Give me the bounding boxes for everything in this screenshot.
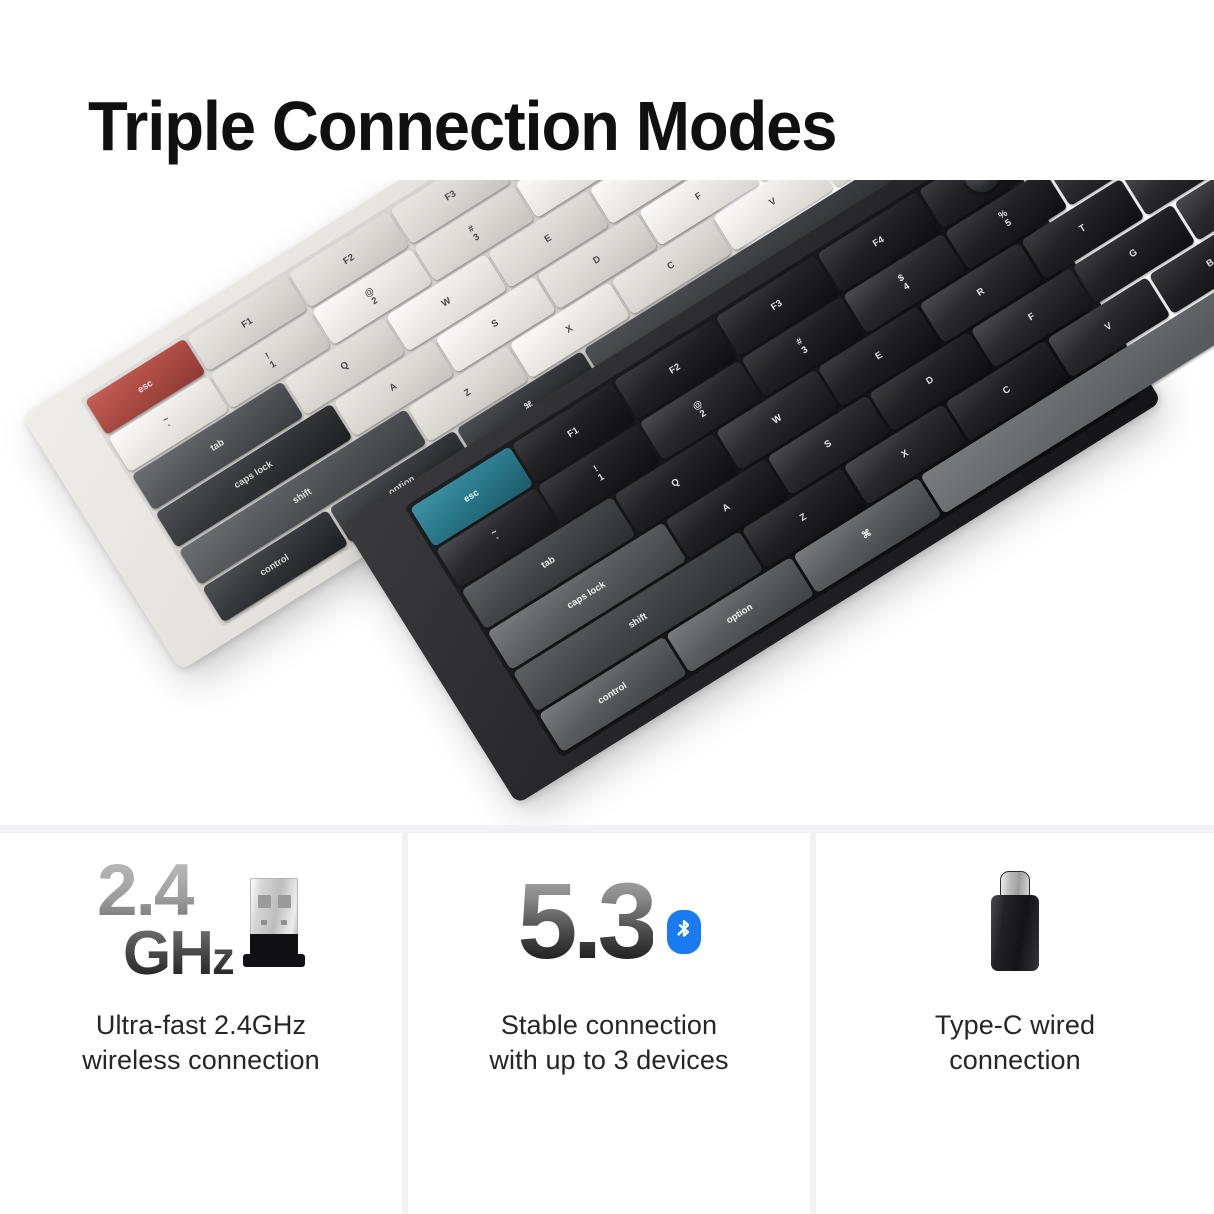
keycap-legend: $ 4 [897, 273, 912, 293]
keycap-legend: caps lock [233, 460, 275, 491]
feature-panel-type-c: Type-C wired connection [816, 833, 1214, 1214]
keycap-legend: R [645, 180, 656, 182]
keycap-legend: C [1001, 385, 1012, 397]
keycap-legend: S [823, 439, 834, 451]
keycap-legend: ~ ` [490, 528, 505, 548]
dongle-foot [243, 954, 305, 967]
keycap-legend: option [725, 603, 755, 627]
keycap-legend: # 3 [467, 224, 482, 244]
keycap-legend: Q [670, 477, 682, 489]
keycap-legend: X [900, 448, 911, 460]
keycap-legend: E [874, 350, 885, 362]
keycap-legend: S [490, 318, 501, 330]
section-divider-horizontal [0, 825, 1214, 833]
keycap-legend: R [975, 286, 986, 298]
keycap-legend: esc [462, 488, 481, 505]
keycap-legend: B [1205, 257, 1214, 269]
dongle-cutout-left [258, 895, 271, 908]
keycap-legend: ! 1 [263, 351, 278, 371]
keycap-legend: tab [209, 438, 226, 454]
dongle-cutout-right [278, 895, 291, 908]
keycap-legend: A [721, 502, 732, 514]
keycap-legend: F1 [240, 316, 255, 330]
keycap-legend: ~ ` [161, 414, 176, 434]
feature-caption-bluetooth: Stable connection with up to 3 devices [489, 1008, 728, 1078]
keycap-legend: F4 [871, 235, 886, 249]
keycap-legend: V [768, 197, 779, 209]
keycap-legend: @ 2 [363, 286, 381, 308]
feature-panel-2-4ghz: 2.4 GHz Ultra-fast 2.4GHz wireless conne… [0, 833, 402, 1214]
keycap-legend: F3 [443, 189, 458, 203]
ghz-value-bottom: GHz [123, 925, 233, 984]
badge-area-2-4ghz: 2.4 GHz [0, 833, 402, 1008]
keycap-legend: # 3 [795, 337, 810, 357]
keycap-legend: E [543, 233, 554, 245]
keycap-legend: F2 [342, 252, 357, 266]
keycap-legend: F2 [668, 362, 683, 376]
keycap-legend: F3 [770, 298, 785, 312]
page-title: Triple Connection Modes [88, 86, 836, 166]
keycap-legend: @ 2 [692, 399, 710, 421]
feature-caption-type-c: Type-C wired connection [935, 1008, 1095, 1078]
ghz-value-top: 2.4 [97, 857, 192, 924]
feature-caption-2-4ghz: Ultra-fast 2.4GHz wireless connection [82, 1008, 320, 1078]
ghz-value-lockup: 2.4 GHz [97, 857, 233, 983]
keycap-legend: T [1078, 223, 1088, 235]
keycap-legend: shift [291, 487, 313, 506]
keycap-legend: control [259, 553, 292, 579]
keycap-legend: D [592, 255, 603, 267]
keycap-legend: X [564, 324, 575, 336]
feature-panel-bluetooth: 5.3 Stable connection with up to 3 devic… [408, 833, 810, 1214]
keycap-legend: Q [339, 360, 351, 372]
bluetooth-version-value: 5.3 [517, 872, 652, 969]
keycap-legend: V [1103, 321, 1114, 333]
keycap-legend: Z [798, 512, 808, 524]
dongle-notch-right [281, 920, 287, 925]
keycap-legend: control [597, 681, 630, 707]
hero-product-image: escF1F2F3F4F5F6F7F8F9F10F11F12~ `! 1@ 2#… [0, 180, 1214, 825]
usb-dongle-icon [243, 878, 305, 970]
type-c-shell [991, 895, 1039, 971]
dongle-notch-left [261, 920, 267, 925]
keycap-legend: ⌘ [861, 528, 874, 541]
keycap-legend: caps lock [566, 580, 608, 611]
keycap-legend: F [694, 191, 704, 203]
badge-area-type-c [816, 833, 1214, 1008]
keycap-legend: D [925, 375, 936, 387]
bluetooth-icon [667, 910, 701, 954]
keycap-legend: F1 [566, 426, 581, 440]
usb-type-c-icon [985, 871, 1045, 971]
keycap-legend: Z [463, 388, 473, 400]
keycap-legend: A [388, 382, 399, 394]
keycap-legend: C [666, 260, 677, 272]
keycap-legend: ! 1 [592, 464, 607, 484]
keycap-legend: esc [136, 378, 155, 395]
keycap-legend: W [771, 413, 784, 426]
keycap-legend: % 5 [997, 209, 1015, 230]
keycap-legend: F [1027, 312, 1037, 324]
keycap-legend: W [440, 296, 453, 309]
keycap-legend: tab [540, 555, 557, 571]
keycap-legend: shift [627, 612, 649, 631]
keycap-legend: G [1128, 248, 1140, 260]
badge-area-bluetooth: 5.3 [408, 833, 810, 1008]
